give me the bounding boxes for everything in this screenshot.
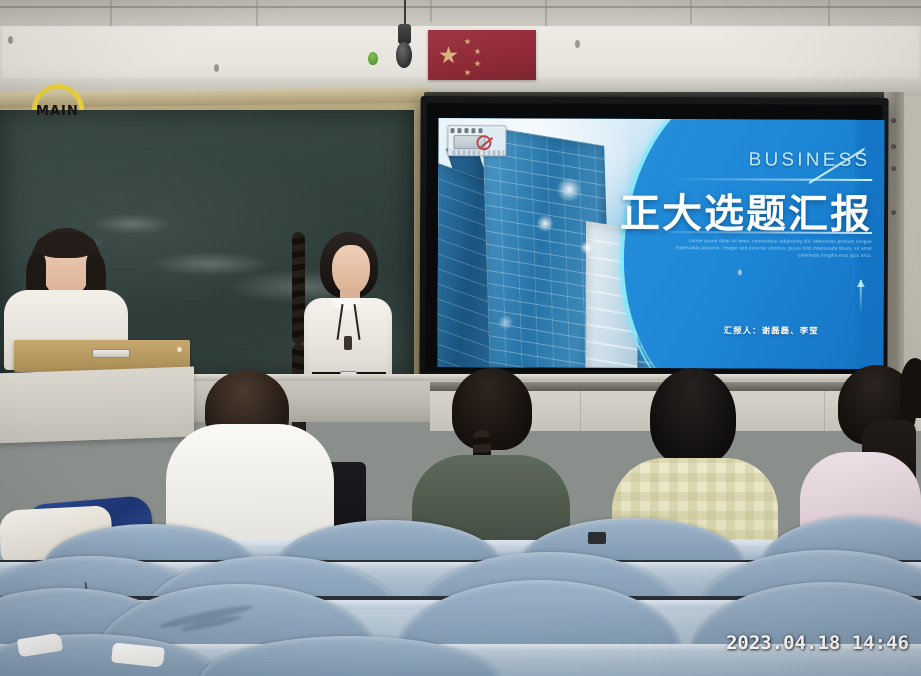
slide-eyebrow: BUSINESS <box>749 149 871 172</box>
device-on-desk <box>588 532 606 544</box>
flag-star-small-icon <box>464 38 471 45</box>
presenter-left-fringe <box>36 232 96 258</box>
slide-subtitle: Lorem ipsum dolor sit amet, consectetur … <box>672 237 872 259</box>
flag-star-small-icon <box>474 48 481 55</box>
mount-bolt <box>891 166 896 171</box>
china-flag <box>428 30 536 80</box>
slide-speck <box>738 269 742 275</box>
ceiling-seam <box>0 6 921 8</box>
flag-star-large-icon <box>439 46 458 65</box>
ceiling-tiles <box>0 0 921 26</box>
necklace-pendant <box>344 336 352 350</box>
popup-icon <box>464 128 468 133</box>
display-bezel: BUSINESS 正大选题汇报 Lorem ipsum dolor sit am… <box>425 103 882 373</box>
slide-arrow-icon <box>860 280 862 314</box>
popup-icon-row <box>450 127 505 133</box>
popup-icon <box>450 128 454 133</box>
photo-timestamp: 2023.04.18 14:46 <box>726 632 909 654</box>
ceiling-sensor-icon <box>368 52 378 65</box>
flag-star-small-icon <box>474 60 481 67</box>
audience-2-hair <box>452 368 532 450</box>
slide-speck <box>684 211 687 214</box>
popup-icon <box>471 128 475 133</box>
ceiling-panel-line <box>110 0 112 26</box>
ceiling-panel-line <box>690 0 692 24</box>
popup-icon <box>478 128 482 133</box>
ceiling-panel-line <box>256 0 258 26</box>
ceiling-panel-line <box>828 0 830 26</box>
ceiling-mark <box>214 64 219 72</box>
ceiling-mark <box>8 36 13 44</box>
wall-joint <box>824 391 825 431</box>
audience-5-partial <box>900 358 921 418</box>
mount-bolt <box>891 144 896 149</box>
popup-icon <box>457 128 461 133</box>
chalk-smear <box>150 252 270 276</box>
system-notification-popup[interactable] <box>447 125 506 156</box>
podium-front-panel <box>0 367 194 444</box>
podium-screw <box>177 347 182 352</box>
ceiling-panel-line <box>545 0 547 26</box>
flag-star-small-icon <box>464 69 471 76</box>
podium-handle[interactable] <box>92 349 130 358</box>
ceiling-mark <box>575 40 580 48</box>
microphone-head <box>396 42 412 68</box>
shirt-graphic-text: MAIN <box>36 104 79 119</box>
no-entry-icon <box>476 135 491 150</box>
wall-joint <box>580 391 581 431</box>
slide-presenter-credit: 汇报人：谢磊磊、李莹 <box>724 324 819 336</box>
ceiling-panel-line <box>430 0 432 22</box>
mount-bolt <box>891 210 896 215</box>
display-screen[interactable]: BUSINESS 正大选题汇报 Lorem ipsum dolor sit am… <box>437 118 884 369</box>
smart-display[interactable]: BUSINESS 正大选题汇报 Lorem ipsum dolor sit am… <box>419 96 888 383</box>
audience-3-hair <box>650 368 736 466</box>
classroom-photo-scene: BUSINESS 正大选题汇报 Lorem ipsum dolor sit am… <box>0 0 921 676</box>
mount-bolt <box>891 118 896 123</box>
microphone-body <box>398 24 411 44</box>
microphone-cable <box>404 0 406 26</box>
popup-caption-text <box>452 150 504 155</box>
